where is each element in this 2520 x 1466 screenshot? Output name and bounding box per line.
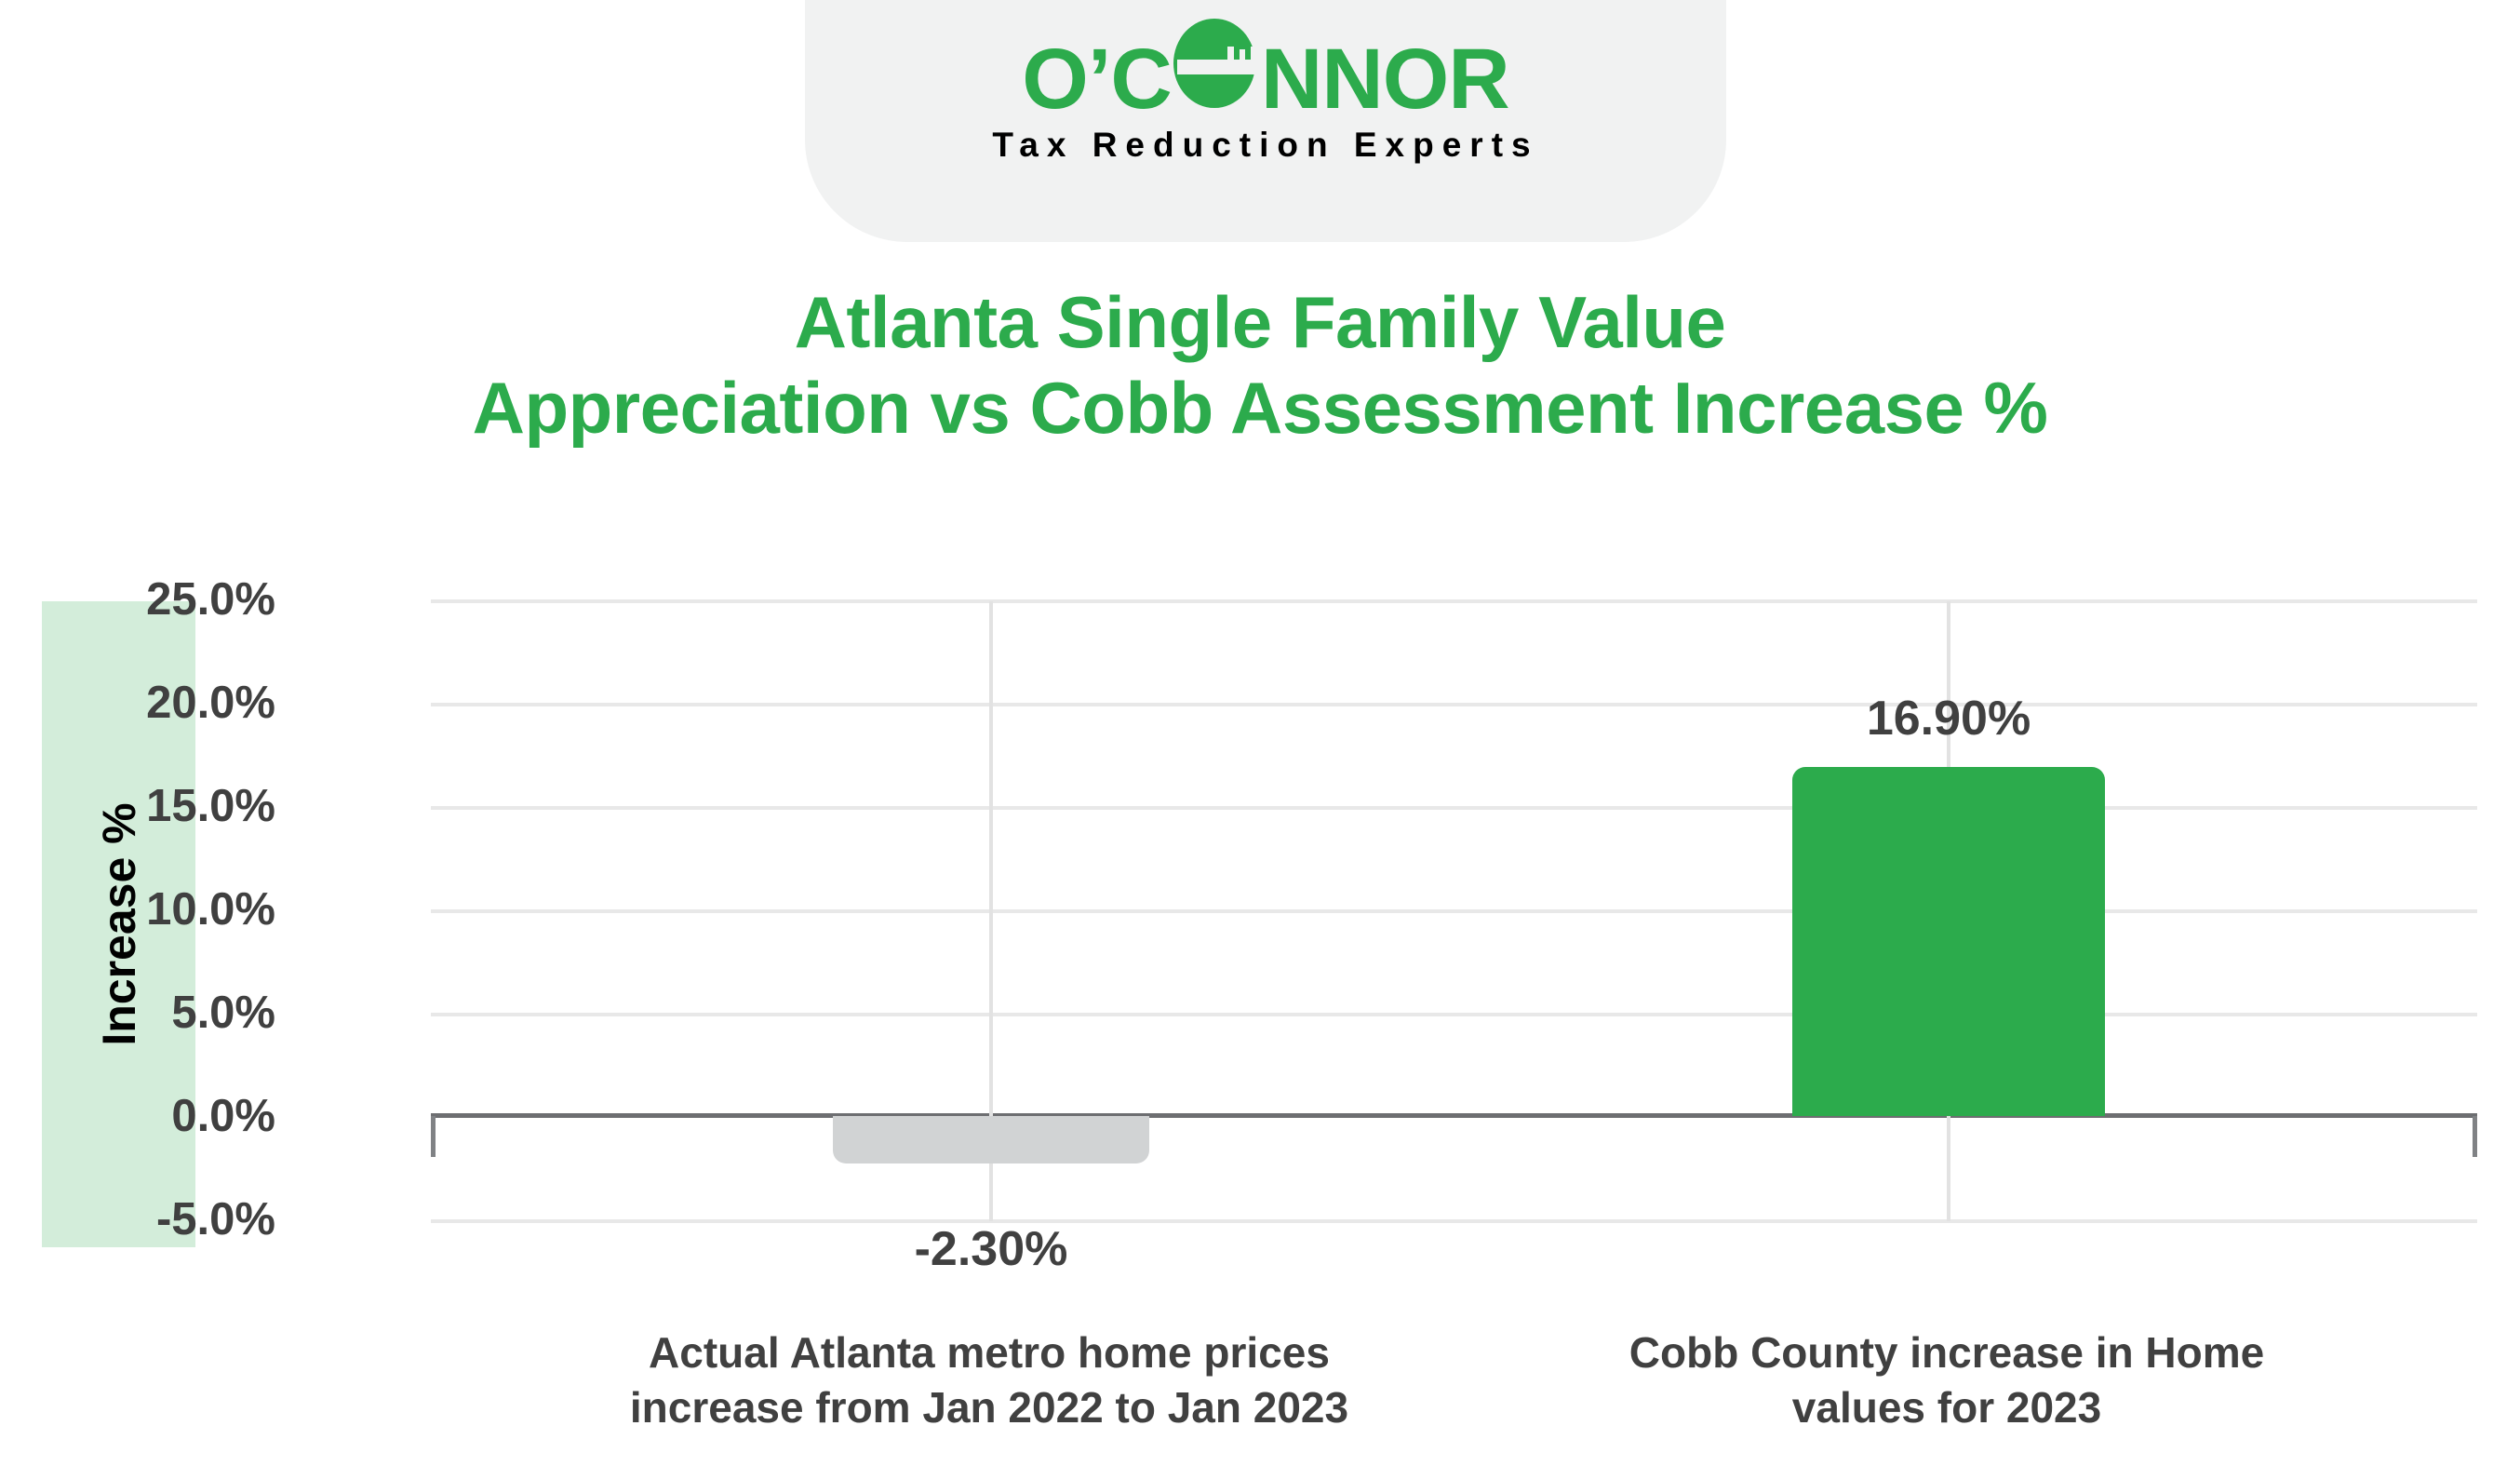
brand-logo: O ’ C NNOR Tax Reduction Experts xyxy=(805,19,1726,165)
ytick-label-15: 15.0% xyxy=(0,780,275,832)
ytick-label-10: 10.0% xyxy=(0,883,275,935)
ytick-label-20: 20.0% xyxy=(0,677,275,729)
logo-tagline: Tax Reduction Experts xyxy=(805,126,1726,165)
chart-title-line-1: Atlanta Single Family Value xyxy=(0,279,2520,365)
logo-letters-nnor: NNOR xyxy=(1261,36,1509,122)
logo-apostrophe: ’ xyxy=(1088,36,1111,122)
ytick-label-5: 5.0% xyxy=(0,987,275,1039)
bar-atlanta-metro[interactable] xyxy=(833,1116,1149,1163)
chart-plot-area: 25.0% 20.0% 15.0% 10.0% 5.0% 0.0% -5.0% … xyxy=(0,0,2520,1466)
logo-letter-o: O xyxy=(1022,36,1088,122)
gridline-15 xyxy=(431,806,2477,810)
category-label-atlanta-line-1: Actual Atlanta metro home prices xyxy=(649,1328,1330,1377)
ytick-label-0: 0.0% xyxy=(0,1090,275,1142)
ytick-label-25: 25.0% xyxy=(0,573,275,625)
bar-value-atlanta: -2.30% xyxy=(805,1221,1177,1277)
gridline-10 xyxy=(431,909,2477,913)
axis-tick-left xyxy=(431,1116,436,1157)
category-label-atlanta-line-2: increase from Jan 2022 to Jan 2023 xyxy=(630,1383,1348,1432)
gridline-5 xyxy=(431,1013,2477,1016)
gridline-minus5 xyxy=(431,1219,2477,1223)
zero-axis-line xyxy=(431,1113,2477,1118)
gridline-25 xyxy=(431,599,2477,603)
chart-title: Atlanta Single Family Value Appreciation… xyxy=(0,279,2520,451)
key-icon xyxy=(1172,19,1261,108)
logo-letter-c: C xyxy=(1110,36,1171,122)
chart-title-line-2: Appreciation vs Cobb Assessment Increase… xyxy=(0,365,2520,451)
ytick-label-minus5: -5.0% xyxy=(0,1193,275,1245)
gridline-20 xyxy=(431,703,2477,706)
bar-value-cobb: 16.90% xyxy=(1763,691,2135,746)
category-label-cobb: Cobb County increase in Home values for … xyxy=(1528,1325,2366,1435)
category-label-cobb-line-2: values for 2023 xyxy=(1792,1383,2101,1432)
category-label-cobb-line-1: Cobb County increase in Home xyxy=(1629,1328,2264,1377)
axis-tick-right xyxy=(2473,1116,2477,1157)
logo-wordmark: O ’ C NNOR xyxy=(1022,19,1508,112)
category-label-atlanta: Actual Atlanta metro home prices increas… xyxy=(570,1325,1408,1435)
bar-cobb-county[interactable] xyxy=(1792,767,2105,1116)
